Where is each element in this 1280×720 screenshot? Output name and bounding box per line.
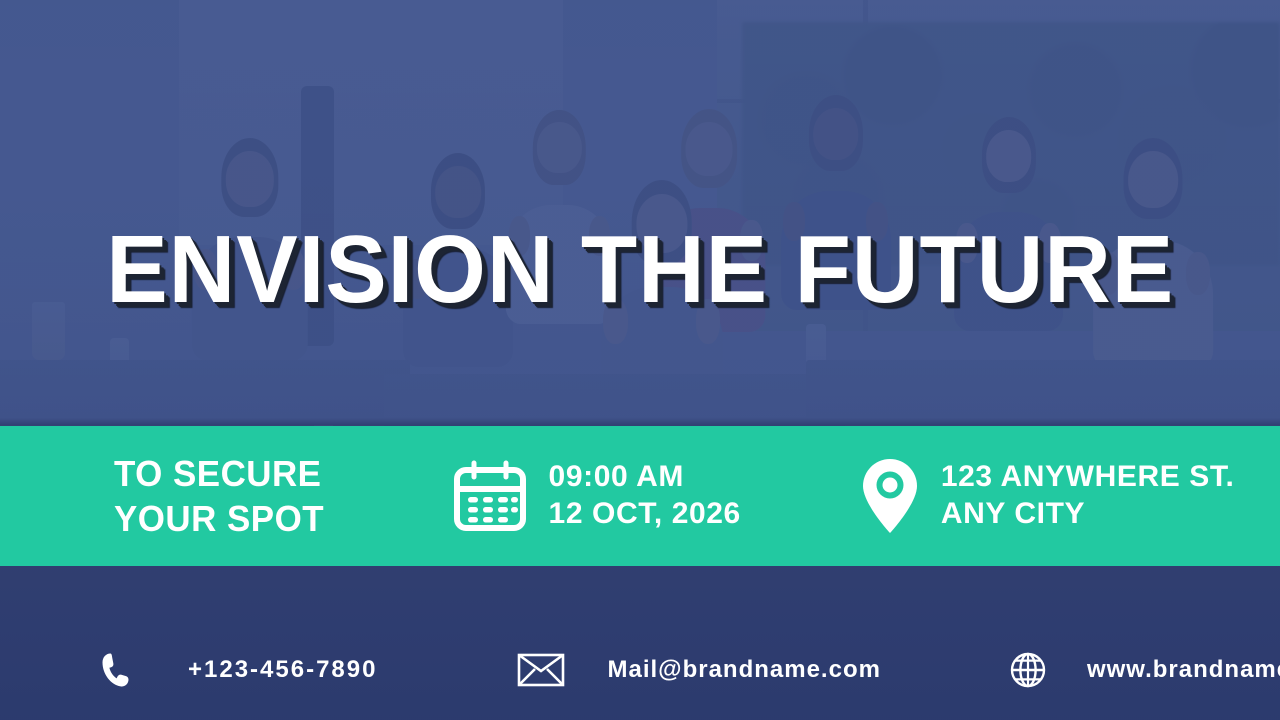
contact-phone[interactable]: +123-456-7890 (100, 651, 377, 689)
event-info-band: TO SECURE YOUR SPOT (0, 426, 1280, 566)
location-block: 123 ANYWHERE ST. ANY CITY (861, 457, 1235, 535)
contact-website[interactable]: www.brandname.com (1009, 651, 1280, 689)
phone-icon (100, 651, 134, 689)
contact-footer: +123-456-7890 Mail@brandname.com (0, 566, 1280, 720)
contact-email[interactable]: Mail@brandname.com (517, 652, 880, 688)
calendar-icon (453, 459, 527, 533)
datetime-block: 09:00 AM 12 OCT, 2026 (453, 459, 741, 533)
phone-number: +123-456-7890 (188, 656, 377, 684)
location-text: 123 ANYWHERE ST. ANY CITY (941, 459, 1235, 532)
event-date: 12 OCT, 2026 (549, 496, 741, 533)
cta-line-1: TO SECURE (114, 451, 324, 496)
envelope-icon (517, 652, 565, 688)
website-url: www.brandname.com (1087, 656, 1280, 684)
globe-icon (1009, 651, 1047, 689)
map-pin-icon (861, 457, 919, 535)
email-address: Mail@brandname.com (607, 656, 880, 684)
cta-line-2: YOUR SPOT (114, 496, 324, 541)
event-poster: ENVISION THE FUTURE TO SECURE YOUR SPOT (0, 0, 1280, 720)
location-line-1: 123 ANYWHERE ST. (941, 459, 1235, 496)
cta-text: TO SECURE YOUR SPOT (114, 451, 324, 541)
location-line-2: ANY CITY (941, 496, 1235, 533)
event-time: 09:00 AM (549, 459, 741, 496)
cta-block: TO SECURE YOUR SPOT (114, 451, 331, 541)
datetime-text: 09:00 AM 12 OCT, 2026 (549, 459, 741, 532)
